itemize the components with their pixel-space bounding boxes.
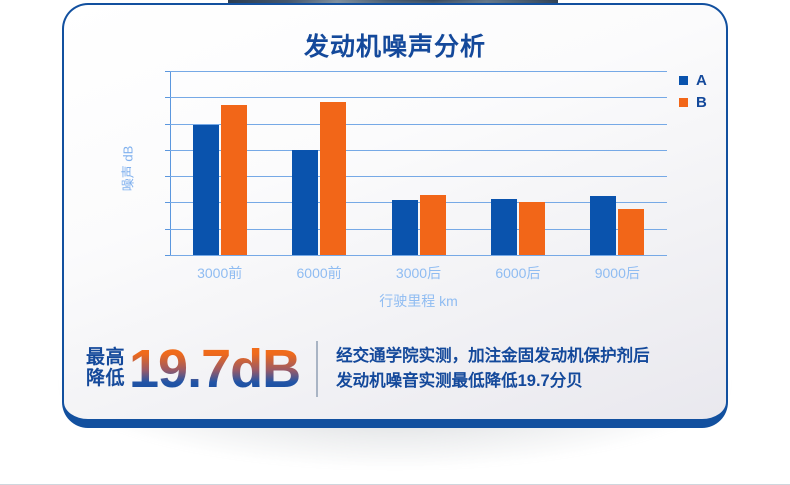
- y-tick-mark: [165, 71, 170, 72]
- y-tick-mark: [165, 176, 170, 177]
- legend-label: A: [696, 73, 707, 88]
- y-tick-mark: [165, 202, 170, 203]
- bar-b-1: [320, 102, 346, 255]
- y-tick-mark: [165, 97, 170, 98]
- legend-swatch-icon: [679, 98, 688, 107]
- noise-analysis-card: 发动机噪声分析 噪声 dB 90.085.080.075.070.065.060…: [62, 3, 728, 428]
- x-tick-label: 3000前: [172, 263, 268, 283]
- bar-b-2: [420, 195, 446, 255]
- plot-area: 90.085.080.075.070.065.060.055.03000前600…: [170, 71, 667, 255]
- bar-b-0: [221, 105, 247, 255]
- bar-a-2: [392, 200, 418, 255]
- gridline: [170, 71, 667, 72]
- y-tick-mark: [165, 229, 170, 230]
- claim-line-1: 最高: [86, 348, 125, 369]
- claim-description: 经交通学院实测，加注金固发动机保护剂后 发动机噪音实测最低降低19.7分贝: [336, 344, 650, 394]
- bar-a-3: [491, 199, 517, 255]
- y-tick-mark: [165, 124, 170, 125]
- y-axis-line: [170, 71, 171, 255]
- claim-desc-line-2: 发动机噪音实测最低降低19.7分贝: [336, 369, 650, 394]
- page-title: 发动机噪声分析: [64, 27, 726, 63]
- claim-headline: 最高 降低 19.7dB: [64, 342, 300, 396]
- y-tick-mark: [165, 150, 170, 151]
- legend-swatch-icon: [679, 76, 688, 85]
- x-tick-label: 6000前: [271, 263, 367, 283]
- bar-a-0: [193, 125, 219, 255]
- x-axis-title: 行驶里程 km: [170, 291, 667, 311]
- legend-item-b[interactable]: B: [679, 91, 727, 113]
- claim-band: 最高 降低 19.7dB 经交通学院实测，加注金固发动机保护剂后 发动机噪音实测…: [64, 327, 728, 411]
- legend-label: B: [696, 95, 707, 110]
- bar-b-3: [519, 202, 545, 255]
- claim-line-2: 降低: [86, 369, 125, 390]
- claim-divider: [316, 341, 318, 397]
- x-tick-label: 9000后: [569, 263, 665, 283]
- chart-legend: AB: [679, 69, 727, 113]
- claim-value: 19.7dB: [129, 342, 300, 396]
- bar-chart: 噪声 dB 90.085.080.075.070.065.060.055.030…: [64, 63, 728, 315]
- claim-desc-line-1: 经交通学院实测，加注金固发动机保护剂后: [336, 344, 650, 369]
- claim-stack-text: 最高 降低: [86, 348, 125, 389]
- bar-a-4: [590, 196, 616, 255]
- x-tick-label: 3000后: [371, 263, 467, 283]
- gridline: [170, 255, 667, 256]
- x-tick-label: 6000后: [470, 263, 566, 283]
- page-root: 发动机噪声分析 噪声 dB 90.085.080.075.070.065.060…: [0, 0, 790, 485]
- y-axis-title: 噪声 dB: [118, 124, 137, 214]
- gridline: [170, 97, 667, 98]
- y-tick-mark: [165, 255, 170, 256]
- legend-item-a[interactable]: A: [679, 69, 727, 91]
- bar-b-4: [618, 209, 644, 255]
- bar-a-1: [292, 150, 318, 255]
